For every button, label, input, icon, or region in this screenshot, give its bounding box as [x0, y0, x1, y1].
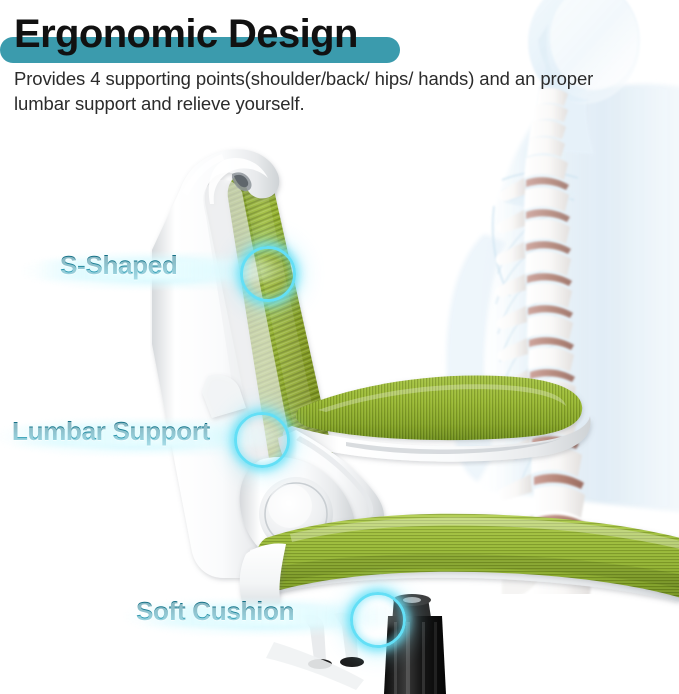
infographic-canvas: Ergonomic Design Provides 4 supporting p… — [0, 0, 679, 694]
callout-ring-icon — [350, 592, 406, 648]
callout-ring-icon — [240, 246, 296, 302]
callout-label: Soft Cushion — [136, 596, 294, 627]
page-subtitle: Provides 4 supporting points(shoulder/ba… — [14, 66, 614, 116]
callout-s-shaped: S-Shaped — [22, 238, 292, 304]
callout-lumbar-support: Lumbar Support — [0, 404, 294, 470]
page-title: Ergonomic Design — [14, 8, 358, 60]
callout-soft-cushion: Soft Cushion — [124, 584, 412, 650]
callout-ring-icon — [234, 412, 290, 468]
page-title-wrapper: Ergonomic Design — [14, 8, 358, 60]
callout-label: Lumbar Support — [12, 416, 210, 447]
callout-label: S-Shaped — [60, 250, 178, 281]
header: Ergonomic Design Provides 4 supporting p… — [0, 0, 679, 130]
